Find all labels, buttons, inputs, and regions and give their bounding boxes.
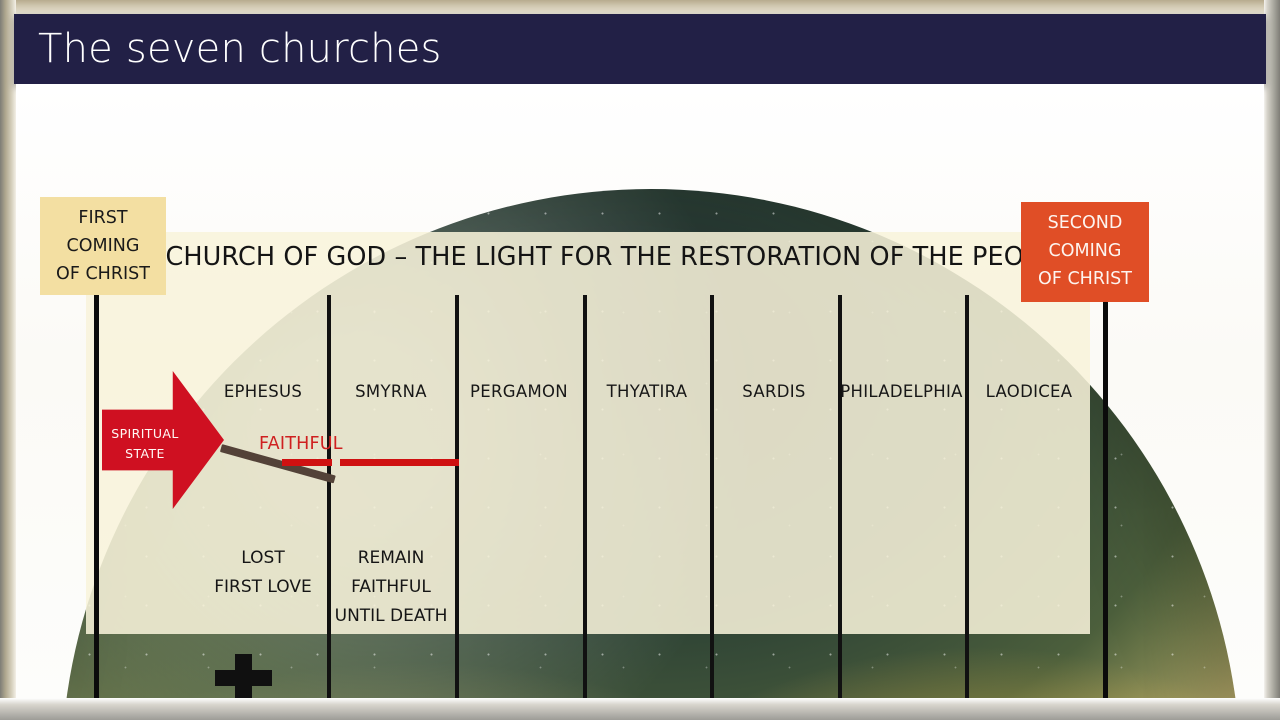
callout-second-coming: SECOND COMING OF CHRIST: [1021, 202, 1149, 302]
faithful-annotation: FAITHFUL: [259, 434, 343, 454]
church-label-philadelphia: PHILADELPHIA: [834, 382, 969, 401]
column-divider-6: [965, 295, 969, 698]
column-divider-1: [327, 295, 331, 698]
note-smyrna: REMAIN FAITHFUL UNTIL DEATH: [327, 544, 455, 631]
church-label-sardis: SARDIS: [710, 382, 838, 401]
spiritual-state-arrow-label: SPIRITUAL STATE: [102, 424, 188, 464]
column-divider-3: [583, 295, 587, 698]
slide-frame-bottom: [0, 698, 1280, 720]
note-ephesus: LOST FIRST LOVE: [199, 544, 327, 602]
callout-second-coming-stem: [1103, 302, 1108, 698]
column-divider-5: [838, 295, 842, 698]
cross-icon-bar: [215, 670, 272, 686]
presentation-slide: The seven churches THE CHURCH OF GOD – T…: [0, 0, 1280, 720]
slide-canvas: THE CHURCH OF GOD – THE LIGHT FOR THE RE…: [16, 84, 1264, 698]
church-label-pergamon: PERGAMON: [455, 382, 583, 401]
state-line-segment-2: [340, 459, 459, 466]
church-label-smyrna: SMYRNA: [327, 382, 455, 401]
column-divider-4: [710, 295, 714, 698]
page-title: The seven churches: [38, 26, 442, 72]
callout-first-coming-stem: [94, 295, 99, 698]
church-label-ephesus: EPHESUS: [199, 382, 327, 401]
church-label-laodicea: LAODICEA: [965, 382, 1093, 401]
slide-frame-left: [0, 0, 16, 720]
callout-first-coming: FIRST COMING OF CHRIST: [40, 197, 166, 295]
slide-frame-right: [1264, 0, 1280, 720]
church-label-thyatira: THYATIRA: [583, 382, 711, 401]
column-divider-2: [455, 295, 459, 698]
state-line-segment-1: [282, 459, 332, 466]
slide-frame-top: [0, 0, 1280, 14]
chart-heading: THE CHURCH OF GOD – THE LIGHT FOR THE RE…: [86, 242, 1090, 272]
slide-title-bar: The seven churches: [14, 14, 1266, 84]
